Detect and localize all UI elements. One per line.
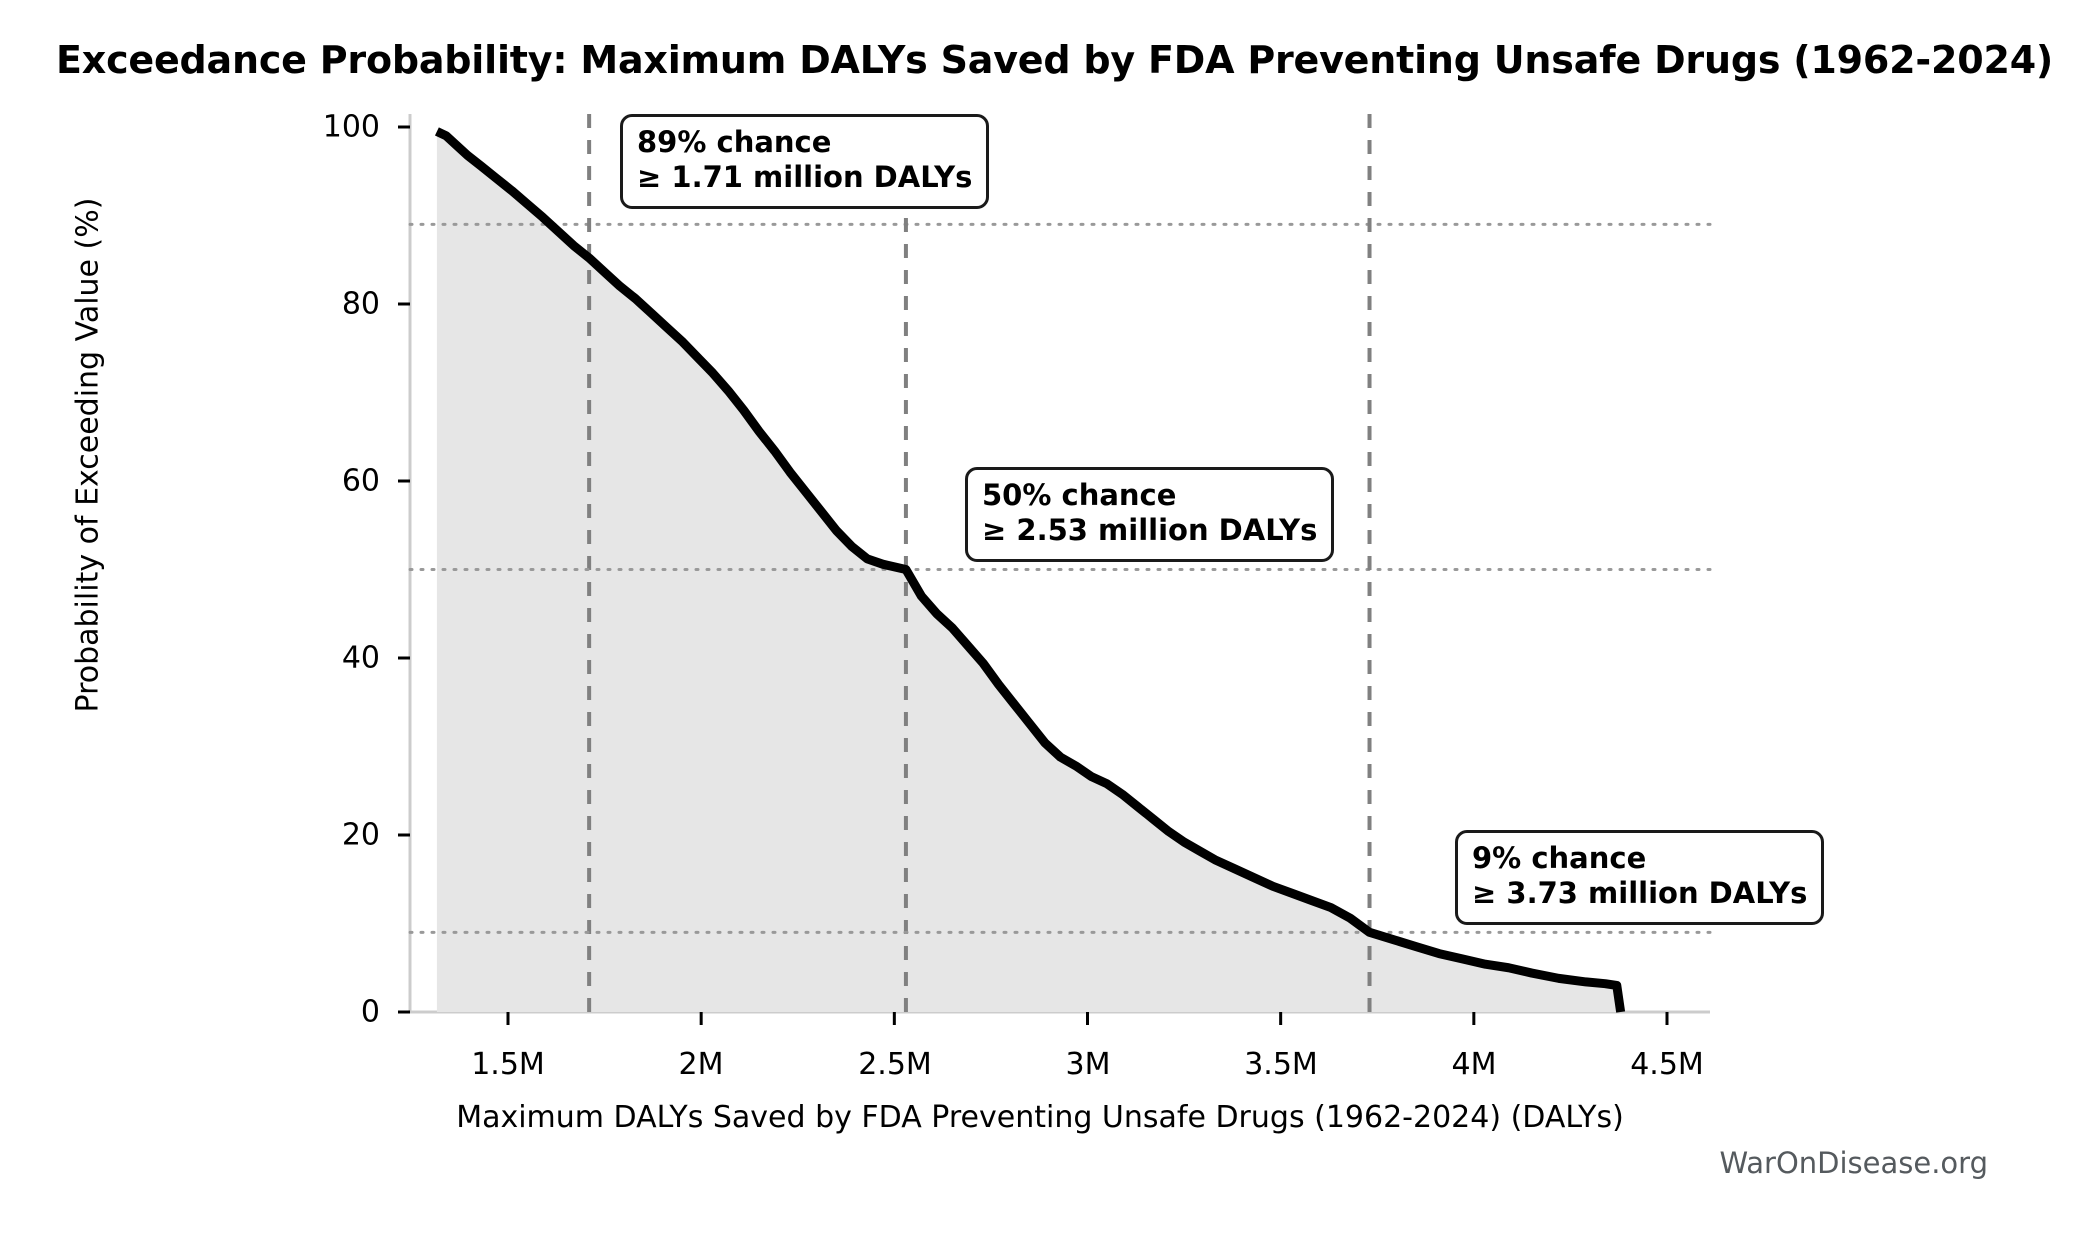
y-tick-label-100: 100 [310,110,380,145]
annotation-50-line2: ≥ 2.53 million DALYs [982,513,1317,548]
x-tick-label-3-5m: 3.5M [1244,1047,1318,1082]
x-tick-label-3m: 3M [1066,1047,1111,1082]
x-axis-label: Maximum DALYs Saved by FDA Preventing Un… [410,1100,1670,1135]
annotation-50-percent: 50% chance ≥ 2.53 million DALYs [965,467,1334,562]
x-tick-label-2m: 2M [679,1047,724,1082]
chart-figure: Exceedance Probability: Maximum DALYs Sa… [0,0,2096,1234]
watermark: WarOnDisease.org [1719,1146,1988,1180]
annotation-50-line1: 50% chance [982,478,1317,513]
y-tick-label-40: 40 [310,641,380,676]
x-tick-label-1-5m: 1.5M [471,1047,545,1082]
annotation-89-percent: 89% chance ≥ 1.71 million DALYs [620,114,989,209]
annotation-9-line1: 9% chance [1472,841,1807,876]
annotation-9-percent: 9% chance ≥ 3.73 million DALYs [1455,830,1824,925]
y-axis-label: Probability of Exceeding Value (%) [71,253,106,713]
exceedance-area-fill [437,131,1621,1012]
x-tick-label-4-5m: 4.5M [1630,1047,1704,1082]
y-tick-label-20: 20 [310,818,380,853]
y-tick-label-0: 0 [310,995,380,1030]
y-tick-label-60: 60 [310,464,380,499]
annotation-9-line2: ≥ 3.73 million DALYs [1472,876,1807,911]
annotation-89-line1: 89% chance [637,125,972,160]
annotation-89-line2: ≥ 1.71 million DALYs [637,160,972,195]
y-tick-label-80: 80 [310,287,380,322]
x-tick-label-4m: 4M [1452,1047,1497,1082]
exceedance-plot [0,0,2096,1234]
x-tick-label-2-5m: 2.5M [858,1047,932,1082]
